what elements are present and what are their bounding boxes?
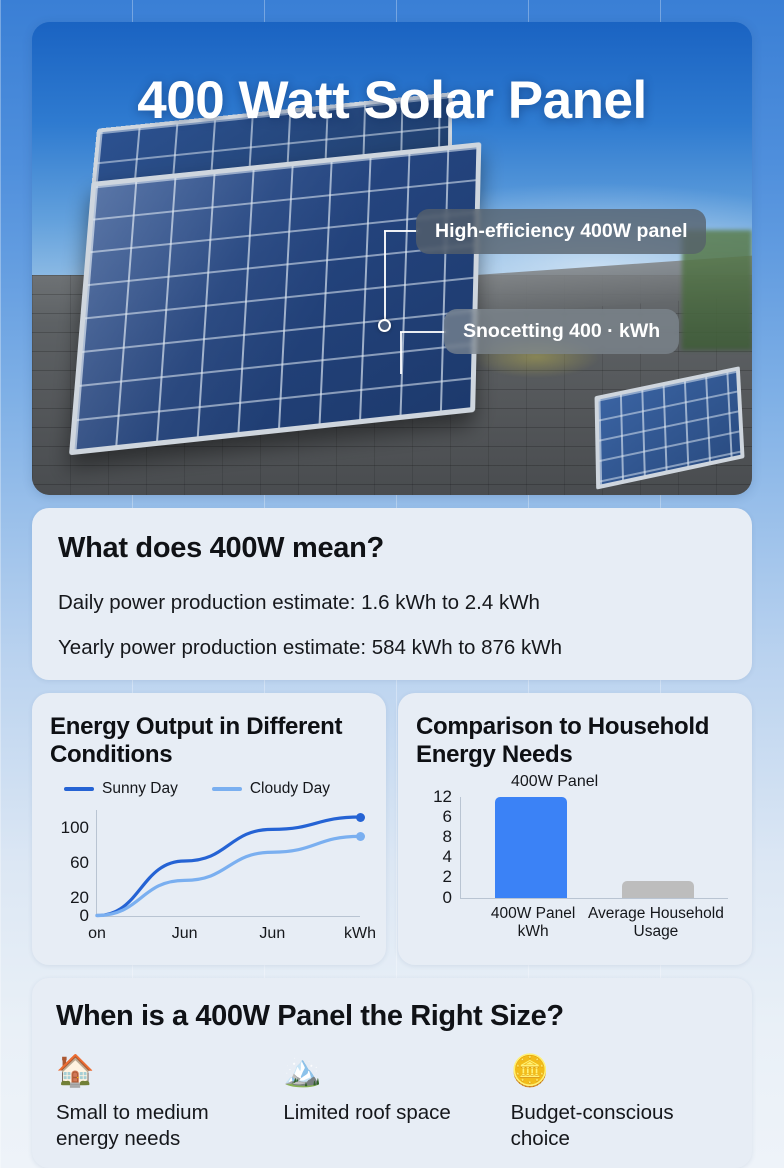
line-endpoint-sunny-marker bbox=[356, 813, 365, 822]
callout-snocetting: Snocetting 400 · kWh bbox=[444, 309, 679, 354]
when-item-label-2: Budget-conscious choice bbox=[511, 1100, 728, 1152]
bar-annotation-400w-panel: 400W Panel bbox=[511, 773, 598, 791]
bar-chart-ytick-1: 6 bbox=[443, 807, 461, 827]
yearly-production-line: Yearly power production estimate: 584 kW… bbox=[58, 636, 726, 660]
legend-swatch-sunny-icon bbox=[64, 787, 94, 791]
line-chart-plot: 02060100onJunJunkWh bbox=[50, 804, 368, 951]
bar-xtick-line: Usage bbox=[581, 923, 731, 942]
line-chart-xtick-0: on bbox=[88, 916, 106, 943]
legend-label-cloudy: Cloudy Day bbox=[250, 780, 330, 798]
hero-title: 400 Watt Solar Panel bbox=[32, 70, 752, 131]
solar-panel-main bbox=[69, 142, 481, 455]
roof-space-icon: 🏔️ bbox=[283, 1055, 500, 1086]
daily-production-line: Daily power production estimate: 1.6 kWh… bbox=[58, 591, 726, 615]
when-items-grid: 🏠Small to medium energy needs🏔️Limited r… bbox=[56, 1055, 728, 1152]
mean-card-heading: What does 400W mean? bbox=[58, 532, 726, 565]
legend-item-sunny: Sunny Day bbox=[64, 780, 178, 798]
legend-item-cloudy: Cloudy Day bbox=[212, 780, 330, 798]
bar-chart-ytick-3: 4 bbox=[443, 847, 461, 867]
line-chart-xtick-2: Jun bbox=[259, 916, 285, 943]
bar-chart-plot: 400W Panel 1268420400W PanelkWhAverage H… bbox=[416, 775, 734, 951]
line-chart-title: Energy Output in Different Conditions bbox=[50, 713, 368, 769]
line-chart-svg bbox=[97, 810, 360, 916]
bar-chart-xtick-1: Average HouseholdUsage bbox=[581, 898, 731, 943]
bar-0 bbox=[495, 797, 567, 898]
line-chart-xtick-3: kWh bbox=[344, 916, 376, 943]
bar-xtick-line: Average Household bbox=[581, 905, 731, 924]
hero-banner: 400 Watt Solar Panel High-efficiency 400… bbox=[32, 22, 752, 495]
coin-icon: 🪙 bbox=[511, 1055, 728, 1086]
line-chart-xtick-1: Jun bbox=[172, 916, 198, 943]
callout-anchor-dot-icon bbox=[378, 319, 391, 332]
line-series-cloudy bbox=[97, 836, 360, 915]
line-chart-ytick-3: 100 bbox=[61, 818, 97, 838]
line-chart-ytick-2: 60 bbox=[70, 853, 97, 873]
when-item-1: 🏔️Limited roof space bbox=[283, 1055, 500, 1152]
energy-output-chart-card: Energy Output in Different Conditions Su… bbox=[32, 693, 386, 965]
when-item-label-0: Small to medium energy needs bbox=[56, 1100, 273, 1152]
legend-swatch-cloudy-icon bbox=[212, 787, 242, 791]
bars-container bbox=[461, 797, 728, 898]
what-does-400w-mean-card: What does 400W mean? Daily power product… bbox=[32, 508, 752, 680]
line-chart-legend: Sunny Day Cloudy Day bbox=[50, 780, 368, 798]
bar-chart-ytick-2: 8 bbox=[443, 827, 461, 847]
bar-chart-axes: 400W Panel 1268420400W PanelkWhAverage H… bbox=[460, 797, 728, 899]
line-chart-ytick-1: 20 bbox=[70, 888, 97, 908]
bar-chart-ytick-4: 2 bbox=[443, 867, 461, 887]
when-item-label-1: Limited roof space bbox=[283, 1100, 500, 1126]
household-comparison-chart-card: Comparison to Household Energy Needs 400… bbox=[398, 693, 752, 965]
line-chart-axes: 02060100onJunJunkWh bbox=[96, 810, 360, 917]
callout-high-efficiency: High-efficiency 400W panel bbox=[416, 209, 706, 254]
when-item-0: 🏠Small to medium energy needs bbox=[56, 1055, 273, 1152]
bar-1 bbox=[622, 881, 694, 898]
when-right-size-card: When is a 400W Panel the Right Size? 🏠Sm… bbox=[32, 978, 752, 1168]
when-item-2: 🪙Budget-conscious choice bbox=[511, 1055, 728, 1152]
line-endpoint-cloudy-marker bbox=[356, 832, 365, 841]
charts-row: Energy Output in Different Conditions Su… bbox=[32, 693, 752, 965]
legend-label-sunny: Sunny Day bbox=[102, 780, 178, 798]
bar-chart-title: Comparison to Household Energy Needs bbox=[416, 713, 734, 769]
when-card-heading: When is a 400W Panel the Right Size? bbox=[56, 1000, 728, 1033]
bar-chart-ytick-0: 12 bbox=[433, 787, 461, 807]
house-icon: 🏠 bbox=[56, 1055, 273, 1086]
infographic-page: 400 Watt Solar Panel High-efficiency 400… bbox=[0, 0, 784, 1168]
